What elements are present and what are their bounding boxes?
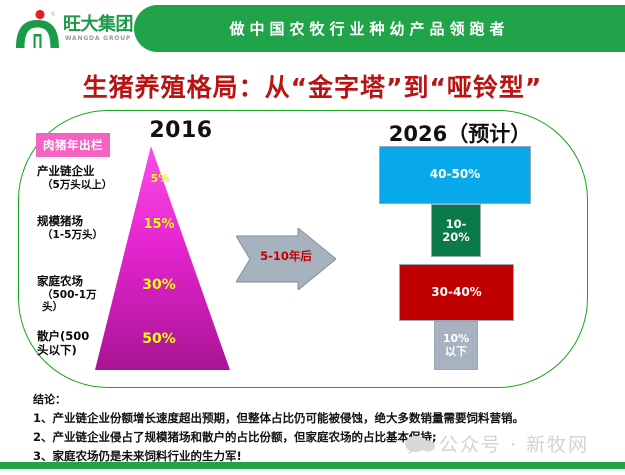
svg-text:®: ® <box>50 11 56 18</box>
dumbbell-bar-scale-farm-value: 10-20% <box>442 218 470 244</box>
chart-title-2016: 2016 <box>116 118 246 143</box>
pyramid-label-tier-3-sub: （500-1万头） <box>37 289 107 314</box>
pyramid-label-tier-4-main: 散户(500 <box>37 330 89 344</box>
dumbbell-bar-smallholder-value: 10%以下 <box>443 333 469 358</box>
header-banner: 做中国农牧行业种幼产品领跑者 <box>134 5 625 52</box>
dumbbell-bar-smallholder: 10%以下 <box>434 321 478 370</box>
pyramid-label-tier-1-main: 产业链企业 <box>37 165 112 179</box>
logo-wordmark: 旺大集团 WANGDA GROUP <box>63 16 133 43</box>
pyramid-value-tier-1: 5% <box>142 172 178 185</box>
pyramid-label-tier-1: 产业链企业 （5万头以上） <box>37 165 112 191</box>
pyramid-label-tier-3: 家庭农场 （500-1万头） <box>37 275 107 313</box>
company-logo: ® 旺大集团 WANGDA GROUP <box>14 8 139 50</box>
dumbbell-bar-industry-chain: 40-50% <box>379 146 531 204</box>
chart-title-2026: 2026（预计） <box>365 118 555 148</box>
pyramid-label-tier-2-main: 规模猪场 <box>37 215 103 229</box>
page-title: 生猪养殖格局：从“金字塔”到“哑铃型” <box>0 68 625 104</box>
pyramid-label-tier-1-sub: （5万头以上） <box>37 179 112 191</box>
wangda-arch-logo-icon: ® <box>14 9 61 49</box>
pyramid-label-tier-4-sub: 头以下) <box>37 344 89 358</box>
pyramid-value-tier-3: 30% <box>135 277 183 293</box>
conclusion-line-2: 2、产业链企业侵占了规模猪场和散户的占比份额，但家庭农场的占比基本保持; <box>33 429 593 445</box>
dumbbell-bar-family-farm: 30-40% <box>399 264 514 321</box>
header-banner-text: 做中国农牧行业种幼产品领跑者 <box>134 5 625 52</box>
pyramid-label-tier-3-main: 家庭农场 <box>37 275 107 289</box>
slide-header: ® 旺大集团 WANGDA GROUP 做中国农牧行业种幼产品领跑者 <box>0 0 625 57</box>
arrow-label: 5-10年后 <box>236 248 336 264</box>
pyramid-value-tier-2: 15% <box>137 217 181 232</box>
conclusion-line-1: 1、产业链企业份额增长速度超出预期，但整体占比仍可能被侵蚀，绝大多数销量需要饲料… <box>33 410 593 426</box>
footer-bar <box>0 462 625 469</box>
dumbbell-bar-scale-farm: 10-20% <box>431 204 481 257</box>
pyramid-label-tier-2-sub: （1-5万头） <box>37 229 103 241</box>
pyramid-label-tier-4: 散户(500 头以下) <box>37 330 89 357</box>
logo-name-cn: 旺大集团 <box>63 16 133 35</box>
conclusion-heading: 结论： <box>33 391 593 407</box>
pyramid-label-tier-2: 规模猪场 （1-5万头） <box>37 215 103 241</box>
slide-canvas: ® 旺大集团 WANGDA GROUP 做中国农牧行业种幼产品领跑者 生猪养殖格… <box>0 0 625 475</box>
pyramid-value-tier-4: 50% <box>135 331 183 347</box>
conclusion-block: 结论： 1、产业链企业份额增长速度超出预期，但整体占比仍可能被侵蚀，绝大多数销量… <box>33 391 593 467</box>
logo-name-en: WANGDA GROUP <box>65 35 131 42</box>
